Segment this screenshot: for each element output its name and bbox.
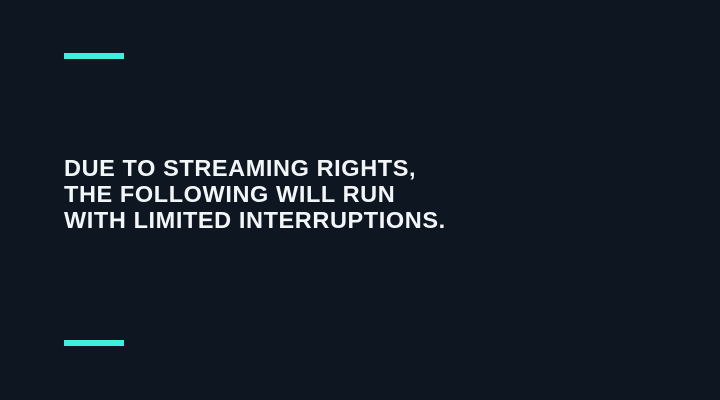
announcement-line-3: WITH LIMITED INTERRUPTIONS. (64, 207, 664, 233)
announcement-line-2: THE FOLLOWING WILL RUN (64, 181, 664, 207)
accent-bar-top (64, 53, 124, 59)
announcement-line-1: DUE TO STREAMING RIGHTS, (64, 155, 664, 181)
accent-bar-bottom (64, 340, 124, 346)
announcement-text-block: DUE TO STREAMING RIGHTS, THE FOLLOWING W… (64, 155, 664, 233)
broadcast-notice-slide: DUE TO STREAMING RIGHTS, THE FOLLOWING W… (0, 0, 720, 400)
